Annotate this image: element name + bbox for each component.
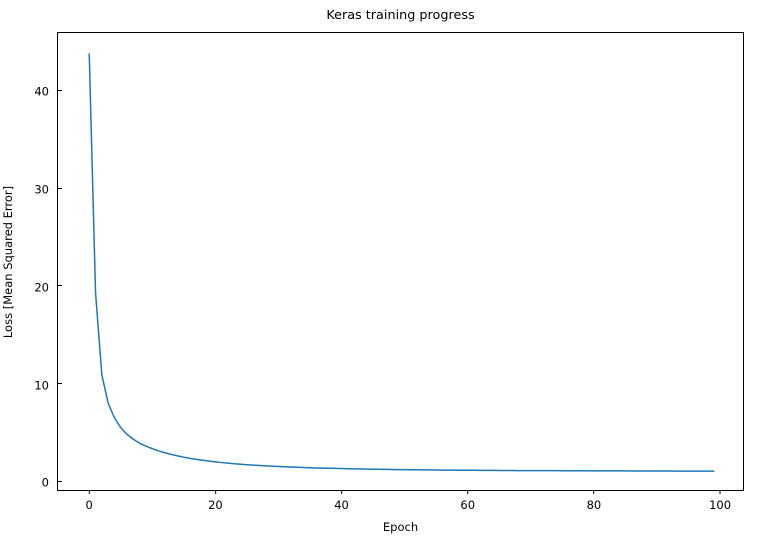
y-axis-label: Loss [Mean Squared Error] <box>0 32 16 491</box>
y-tick-label: 20 <box>34 280 58 294</box>
x-tick: 60 <box>460 490 475 512</box>
chart-title: Keras training progress <box>57 8 744 24</box>
plot-area: 010203040 020406080100 <box>57 32 744 491</box>
y-tick-mark <box>58 481 62 482</box>
loss-curve <box>89 54 714 471</box>
y-tick-label: 10 <box>34 378 58 392</box>
x-tick: 100 <box>709 490 731 512</box>
figure-canvas: Keras training progress Loss [Mean Squar… <box>0 0 764 547</box>
y-tick-label: 40 <box>34 85 58 99</box>
x-tick-mark <box>215 490 216 494</box>
x-tick-mark <box>341 490 342 494</box>
x-tick: 40 <box>334 490 349 512</box>
y-tick: 10 <box>34 374 58 393</box>
y-tick-mark <box>58 383 62 384</box>
y-tick-label: 30 <box>34 183 58 197</box>
y-tick-mark <box>58 90 62 91</box>
y-axis-label-text: Loss [Mean Squared Error] <box>1 185 15 337</box>
line-chart-svg <box>58 33 745 492</box>
x-tick: 80 <box>587 490 602 512</box>
x-axis-label: Epoch <box>57 520 744 534</box>
x-tick: 20 <box>208 490 223 512</box>
y-tick: 30 <box>34 179 58 198</box>
y-tick-mark <box>58 285 62 286</box>
y-tick: 40 <box>34 81 58 100</box>
y-tick-label: 0 <box>42 476 58 490</box>
x-tick-mark <box>89 490 90 494</box>
y-tick-mark <box>58 188 62 189</box>
x-tick: 0 <box>86 490 93 512</box>
y-tick: 0 <box>42 472 58 491</box>
x-tick-mark <box>593 490 594 494</box>
x-tick-mark <box>467 490 468 494</box>
x-tick-mark <box>720 490 721 494</box>
y-tick: 20 <box>34 276 58 295</box>
